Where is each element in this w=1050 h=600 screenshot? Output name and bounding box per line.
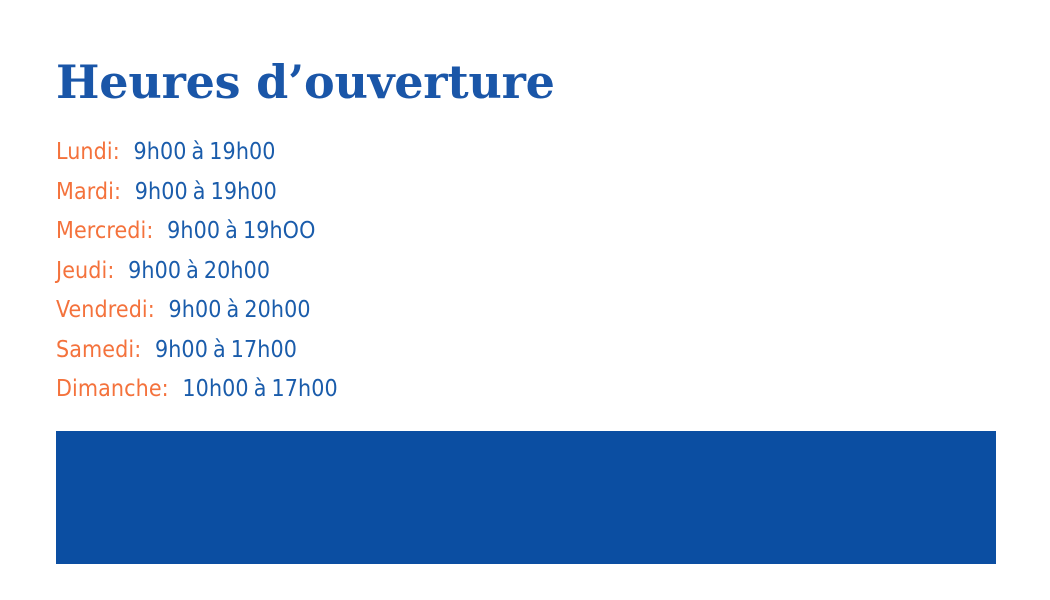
time-separator: à (227, 297, 240, 323)
close-time: 17h00 (271, 376, 337, 402)
list-item: Jeudi: 9h00à20h00 (56, 252, 338, 292)
day-label: Lundi: (56, 139, 120, 165)
open-time: 9h00 (135, 179, 188, 205)
day-label: Mercredi: (56, 218, 153, 244)
close-time: 20h00 (244, 297, 310, 323)
day-label: Dimanche: (56, 376, 169, 402)
time-separator: à (193, 179, 206, 205)
open-time: 9h00 (169, 297, 222, 323)
close-time: 20h00 (204, 258, 270, 284)
list-item: Lundi: 9h00à19h00 (56, 133, 338, 173)
bottom-blue-banner (56, 431, 996, 564)
hours-value: 9h00à19hOO (167, 218, 315, 244)
open-time: 9h00 (167, 218, 220, 244)
open-time: 10h00 (182, 376, 248, 402)
list-item: Dimanche: 10h00à17h00 (56, 370, 338, 410)
hours-value: 9h00à19h00 (134, 139, 276, 165)
open-time: 9h00 (128, 258, 181, 284)
list-item: Mardi: 9h00à19h00 (56, 173, 338, 213)
opening-hours-list: Lundi: 9h00à19h00 Mardi: 9h00à19h00 Merc… (56, 133, 338, 410)
page-title: Heures d’ouverture (56, 58, 555, 106)
hours-value: 9h00à20h00 (169, 297, 311, 323)
open-time: 9h00 (134, 139, 187, 165)
list-item: Mercredi: 9h00à19hOO (56, 212, 338, 252)
close-time: 19hOO (243, 218, 316, 244)
close-time: 17h00 (231, 337, 297, 363)
hours-value: 10h00à17h00 (182, 376, 337, 402)
time-separator: à (186, 258, 199, 284)
hours-value: 9h00à20h00 (128, 258, 270, 284)
close-time: 19h00 (211, 179, 277, 205)
time-separator: à (192, 139, 205, 165)
list-item: Samedi: 9h00à17h00 (56, 331, 338, 371)
time-separator: à (225, 218, 238, 244)
slide-canvas: Heures d’ouverture Lundi: 9h00à19h00 Mar… (0, 0, 1050, 600)
hours-value: 9h00à19h00 (135, 179, 277, 205)
hours-value: 9h00à17h00 (155, 337, 297, 363)
time-separator: à (213, 337, 226, 363)
day-label: Vendredi: (56, 297, 155, 323)
list-item: Vendredi: 9h00à20h00 (56, 291, 338, 331)
day-label: Samedi: (56, 337, 141, 363)
close-time: 19h00 (209, 139, 275, 165)
open-time: 9h00 (155, 337, 208, 363)
time-separator: à (254, 376, 267, 402)
day-label: Jeudi: (56, 258, 114, 284)
day-label: Mardi: (56, 179, 121, 205)
